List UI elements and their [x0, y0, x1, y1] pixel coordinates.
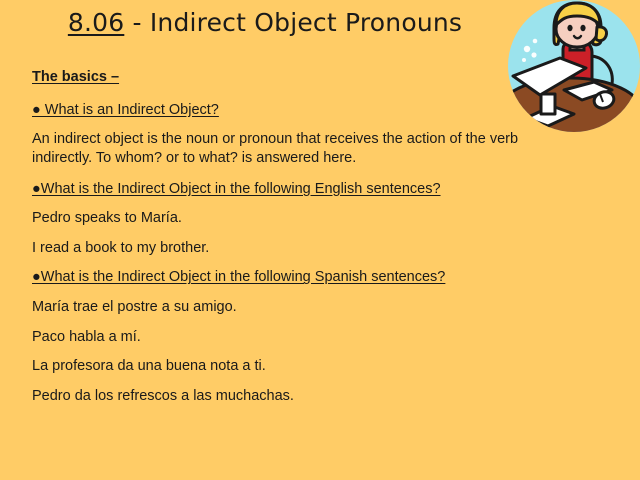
section-heading-the-basics: The basics – [32, 68, 612, 87]
girl-neck [570, 38, 584, 50]
english-sentence-1: Pedro speaks to María. [32, 209, 612, 228]
page-title: 8.06 - Indirect Object Pronouns [0, 8, 530, 37]
title-rest: - Indirect Object Pronouns [124, 8, 462, 37]
spanish-sentence-1: María trae el postre a su amigo. [32, 298, 612, 317]
bullet-what-is-an-indirect-object: ● What is an Indirect Object? [32, 101, 612, 120]
girl-face [556, 11, 598, 47]
definition-paragraph: An indirect object is the noun or pronou… [32, 130, 564, 168]
slide-body: The basics – ● What is an Indirect Objec… [32, 68, 612, 416]
bullet-english-sentences-question: ●What is the Indirect Object in the foll… [32, 180, 612, 199]
spanish-sentence-3: La profesora da una buena nota a ti. [32, 357, 612, 376]
bullet-spanish-sentences-question: ●What is the Indirect Object in the foll… [32, 268, 612, 287]
girl-hair-tuft [596, 27, 607, 41]
spanish-sentence-4: Pedro da los refrescos a las muchachas. [32, 387, 612, 406]
girl-eye-left [567, 25, 572, 31]
lesson-number: 8.06 [68, 8, 124, 37]
english-sentence-2: I read a book to my brother. [32, 239, 612, 258]
bubbles-icon [522, 39, 537, 62]
girl-hair-back [554, 3, 601, 45]
spanish-sentence-2: Paco habla a mí. [32, 328, 612, 347]
girl-hair-fringe [556, 3, 600, 25]
girl-eye-right [580, 25, 585, 31]
girl-mouth [574, 36, 581, 38]
slide-canvas: 8.06 - Indirect Object Pronouns The basi… [0, 0, 640, 480]
